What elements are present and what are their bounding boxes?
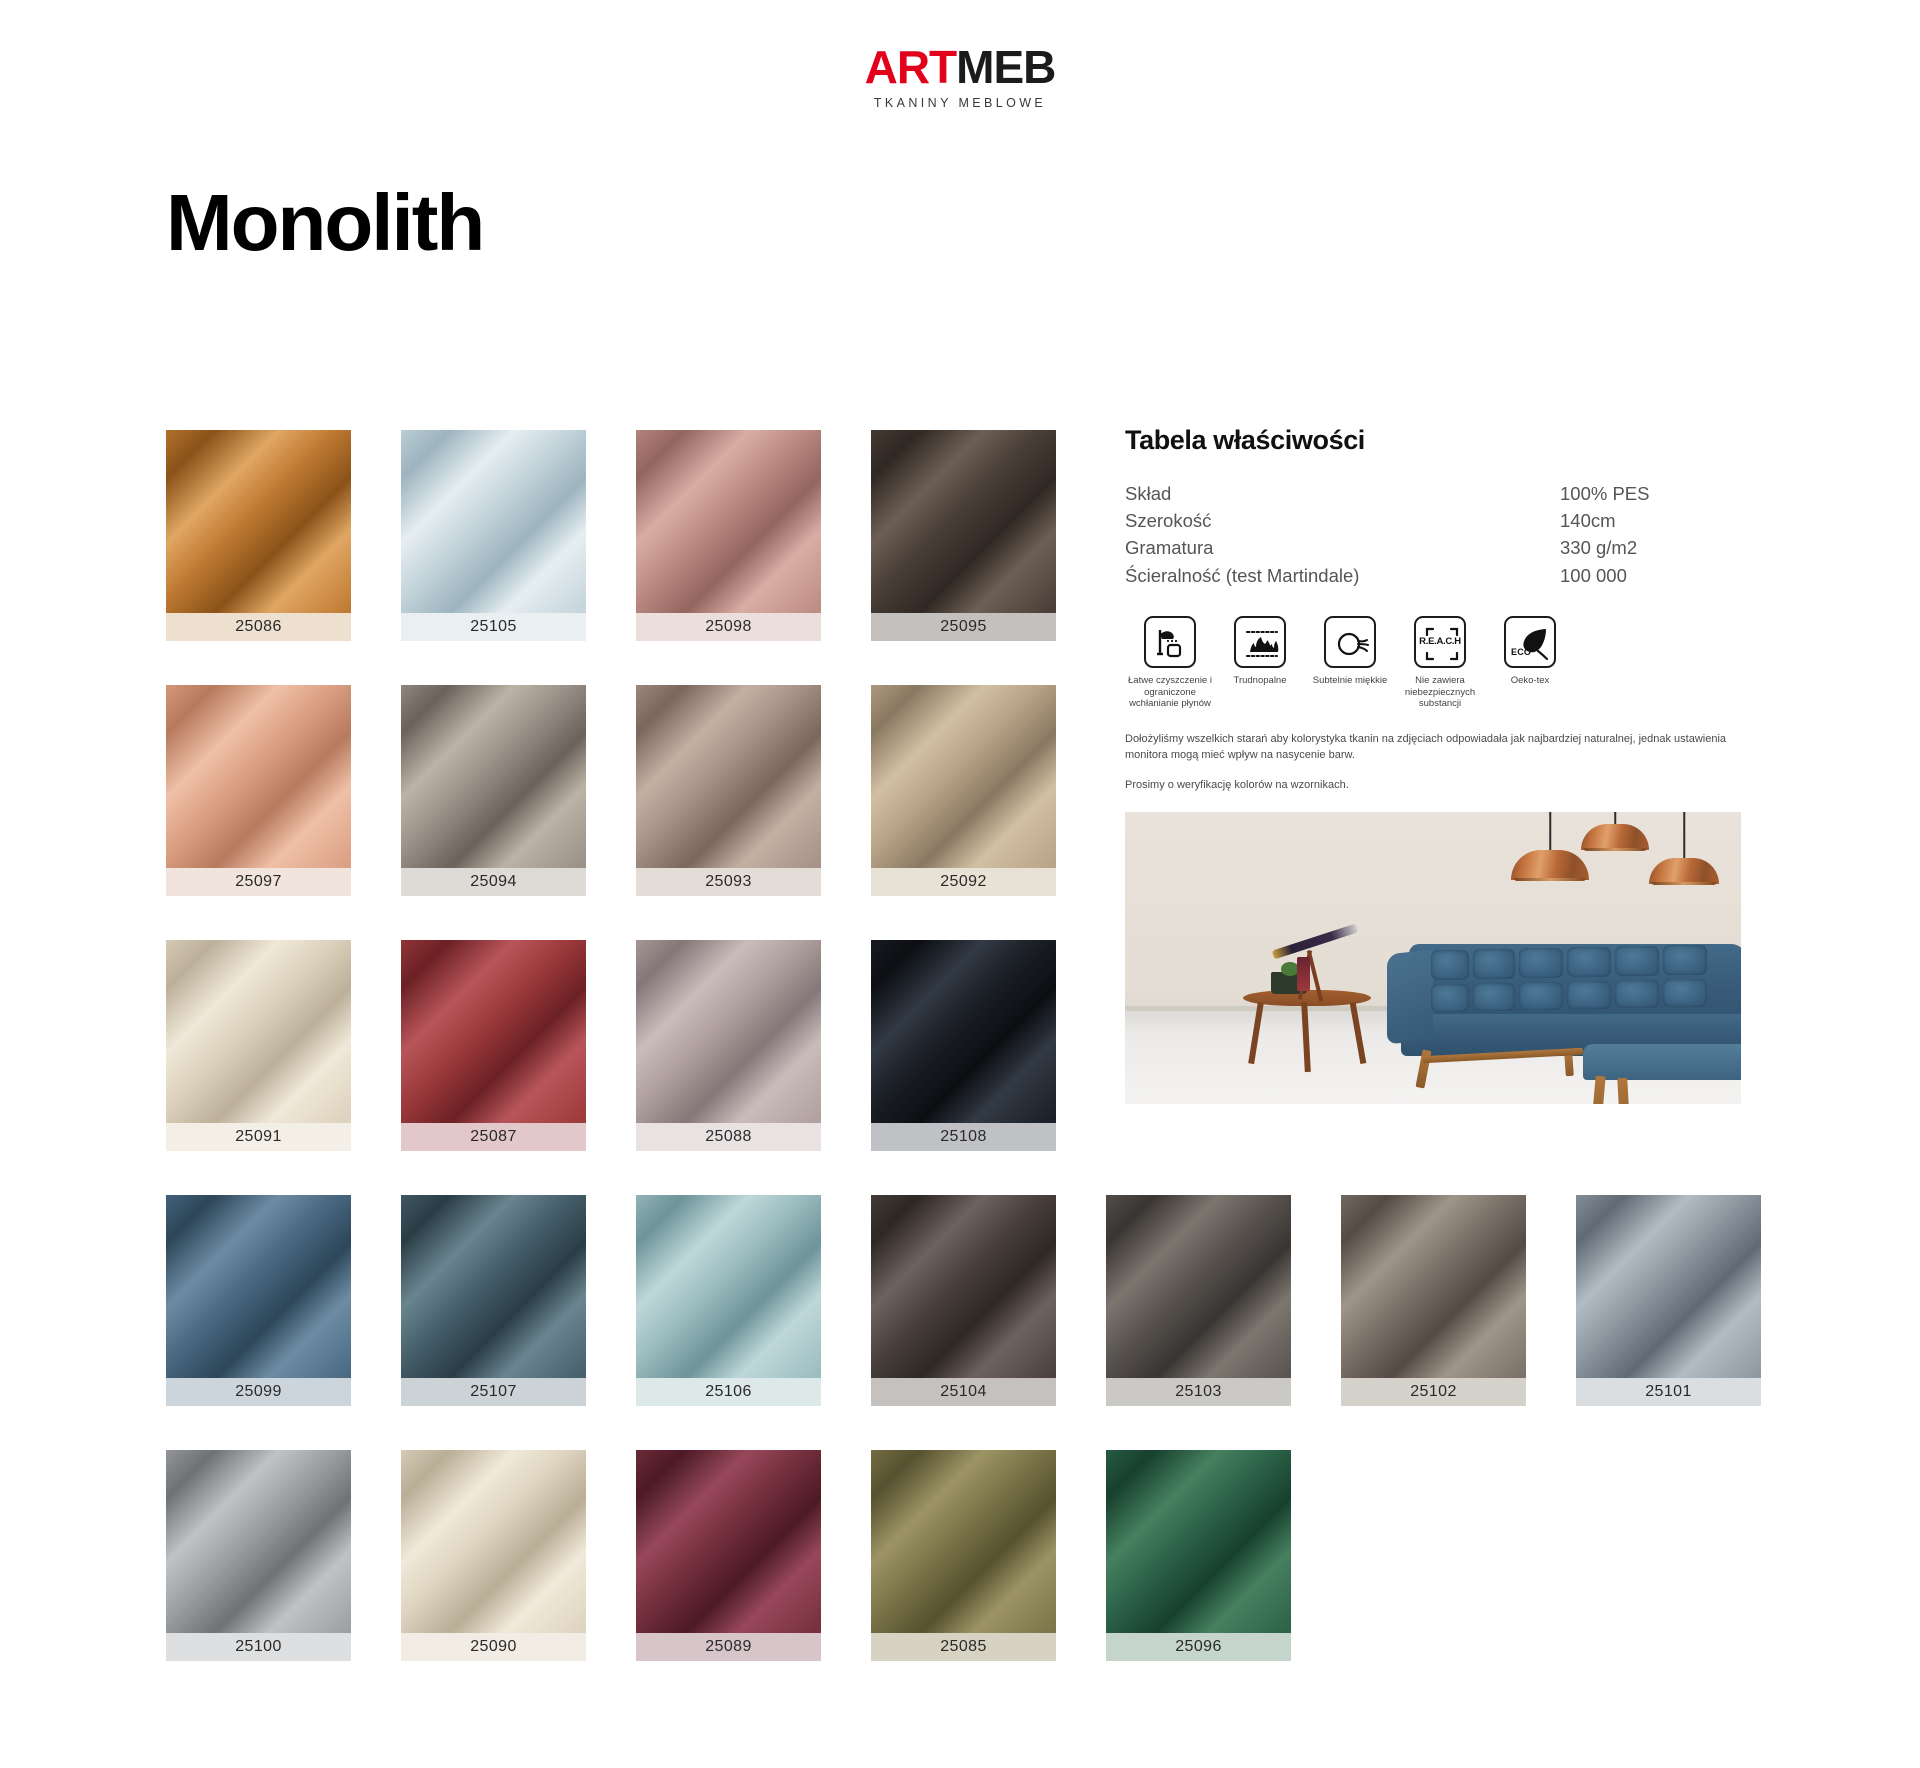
swatch-image <box>636 940 821 1123</box>
brand-logo: ARTMEB TKANINY MEBLOWE <box>0 44 1920 110</box>
feature-easy-clean: Łatwe czyszczenie i ograniczone wchłania… <box>1125 616 1215 711</box>
swatch-image <box>1106 1450 1291 1633</box>
swatch-image <box>636 1195 821 1378</box>
swatch-code-label: 25097 <box>166 868 351 896</box>
fabric-fold <box>636 940 821 1123</box>
swatch-code-label: 25089 <box>636 1633 821 1661</box>
swatch-image <box>401 1195 586 1378</box>
fabric-fold <box>636 430 821 613</box>
property-row: Gramatura330 g/m2 <box>1125 535 1750 562</box>
swatch-code-label: 25106 <box>636 1378 821 1406</box>
swatch-25089[interactable]: 25089 <box>636 1450 821 1661</box>
swatch-code-label: 25094 <box>401 868 586 896</box>
swatch-image <box>166 1195 351 1378</box>
fabric-fold <box>871 685 1056 868</box>
feature-soft-touch: Subtelnie miękkie <box>1305 616 1395 711</box>
property-value: 140cm <box>1560 507 1750 534</box>
swatch-image <box>871 1195 1056 1378</box>
fabric-fold <box>166 685 351 868</box>
swatch-25098[interactable]: 25098 <box>636 430 821 641</box>
swatch-image <box>636 685 821 868</box>
fabric-fold <box>1106 1195 1291 1378</box>
properties-title: Tabela właściwości <box>1125 425 1750 456</box>
ottoman-bench <box>1583 1044 1741 1104</box>
disclaimer-line-2: Prosimy o weryfikację kolorów na wzornik… <box>1125 778 1745 794</box>
swatch-image <box>871 430 1056 613</box>
logo-tagline: TKANINY MEBLOWE <box>0 96 1920 110</box>
swatch-code-label: 25085 <box>871 1633 1056 1661</box>
fabric-fold <box>401 1195 586 1378</box>
swatch-25107[interactable]: 25107 <box>401 1195 586 1406</box>
swatch-image <box>166 940 351 1123</box>
swatch-25105[interactable]: 25105 <box>401 430 586 641</box>
decor-bottle <box>1297 957 1310 991</box>
swatch-image <box>871 940 1056 1123</box>
swatch-25104[interactable]: 25104 <box>871 1195 1056 1406</box>
swatch-image <box>1341 1195 1526 1378</box>
swatch-image <box>871 1450 1056 1633</box>
swatch-code-label: 25087 <box>401 1123 586 1151</box>
eco-leaf-icon: ECO <box>1504 616 1556 668</box>
properties-panel: Tabela właściwości Skład100% PESSzerokoś… <box>1125 425 1750 1104</box>
pendant-lamp-left <box>1510 812 1590 882</box>
eco-badge-text: ECO <box>1511 647 1531 657</box>
fabric-fold <box>1341 1195 1526 1378</box>
fabric-fold <box>636 1195 821 1378</box>
swatch-25087[interactable]: 25087 <box>401 940 586 1151</box>
swatch-image <box>1576 1195 1761 1378</box>
swatch-image <box>166 685 351 868</box>
soft-touch-icon <box>1324 616 1376 668</box>
swatch-code-label: 25095 <box>871 613 1056 641</box>
feature-icons-row: Łatwe czyszczenie i ograniczone wchłania… <box>1125 616 1750 711</box>
fabric-fold <box>401 685 586 868</box>
fabric-catalog-page: ARTMEB TKANINY MEBLOWE Monolith 25086251… <box>0 0 1920 1768</box>
swatch-25099[interactable]: 25099 <box>166 1195 351 1406</box>
swatch-25094[interactable]: 25094 <box>401 685 586 896</box>
swatch-code-label: 25088 <box>636 1123 821 1151</box>
swatch-25102[interactable]: 25102 <box>1341 1195 1526 1406</box>
fabric-fold <box>166 1195 351 1378</box>
disclaimer-text: Dołożyliśmy wszelkich starań aby kolorys… <box>1125 732 1745 794</box>
feature-caption: Łatwe czyszczenie i ograniczone wchłania… <box>1125 675 1215 711</box>
fabric-fold <box>166 940 351 1123</box>
swatch-image <box>636 430 821 613</box>
fabric-fold <box>871 1195 1056 1378</box>
property-value: 100 000 <box>1560 562 1750 589</box>
fabric-fold <box>401 1450 586 1633</box>
swatch-25090[interactable]: 25090 <box>401 1450 586 1661</box>
swatch-25095[interactable]: 25095 <box>871 430 1056 641</box>
property-row: Skład100% PES <box>1125 480 1750 507</box>
property-row: Szerokość140cm <box>1125 507 1750 534</box>
pendant-lamp-center <box>1580 812 1650 856</box>
telescope <box>1272 924 1358 960</box>
reach-icon: R.E.A.C.H <box>1414 616 1466 668</box>
swatch-image <box>1106 1195 1291 1378</box>
feature-caption: Nie zawiera niebezpiecznych substancji <box>1395 675 1485 711</box>
property-row: Ścieralność (test Martindale)100 000 <box>1125 562 1750 589</box>
swatch-25106[interactable]: 25106 <box>636 1195 821 1406</box>
swatch-25093[interactable]: 25093 <box>636 685 821 896</box>
swatch-25091[interactable]: 25091 <box>166 940 351 1151</box>
feature-caption: Subtelnie miękkie <box>1305 675 1395 687</box>
reach-badge-text: R.E.A.C.H <box>1416 618 1464 666</box>
swatch-code-label: 25090 <box>401 1633 586 1661</box>
feature-caption: Trudnopalne <box>1215 675 1305 687</box>
swatch-25092[interactable]: 25092 <box>871 685 1056 896</box>
swatch-row: 25099251072510625104251032510225101 <box>166 1195 1366 1406</box>
swatch-25103[interactable]: 25103 <box>1106 1195 1291 1406</box>
feature-eco-leaf: ECOOeko-tex <box>1485 616 1575 711</box>
swatch-image <box>401 685 586 868</box>
swatch-code-label: 25091 <box>166 1123 351 1151</box>
swatch-image <box>401 430 586 613</box>
fabric-fold <box>401 430 586 613</box>
property-value: 330 g/m2 <box>1560 535 1750 562</box>
swatch-code-label: 25104 <box>871 1378 1056 1406</box>
pendant-lamp-right <box>1648 812 1720 890</box>
page-title: Monolith <box>166 183 483 263</box>
fabric-fold <box>401 940 586 1123</box>
feature-flame-retardant: Trudnopalne <box>1215 616 1305 711</box>
fabric-fold <box>871 940 1056 1123</box>
swatch-25101[interactable]: 25101 <box>1576 1195 1761 1406</box>
fabric-fold <box>166 430 351 613</box>
swatch-code-label: 25101 <box>1576 1378 1761 1406</box>
property-label: Ścieralność (test Martindale) <box>1125 562 1560 589</box>
logo-meb-text: MEB <box>956 41 1055 93</box>
swatch-image <box>166 430 351 613</box>
side-table <box>1243 990 1371 1060</box>
feature-reach: R.E.A.C.HNie zawiera niebezpiecznych sub… <box>1395 616 1485 711</box>
fabric-fold <box>636 685 821 868</box>
swatch-25085[interactable]: 25085 <box>871 1450 1056 1661</box>
swatch-25088[interactable]: 25088 <box>636 940 821 1151</box>
swatch-image <box>166 1450 351 1633</box>
property-label: Skład <box>1125 480 1560 507</box>
easy-clean-icon <box>1144 616 1196 668</box>
fabric-fold <box>871 430 1056 613</box>
fabric-fold <box>871 1450 1056 1633</box>
swatch-25108[interactable]: 25108 <box>871 940 1056 1151</box>
swatch-code-label: 25096 <box>1106 1633 1291 1661</box>
swatch-25096[interactable]: 25096 <box>1106 1450 1291 1661</box>
interior-photo <box>1125 812 1741 1104</box>
property-value: 100% PES <box>1560 480 1750 507</box>
swatch-code-label: 25103 <box>1106 1378 1291 1406</box>
swatch-image <box>401 940 586 1123</box>
swatch-code-label: 25093 <box>636 868 821 896</box>
swatch-25097[interactable]: 25097 <box>166 685 351 896</box>
property-label: Gramatura <box>1125 535 1560 562</box>
fabric-fold <box>636 1450 821 1633</box>
logo-art-text: ART <box>865 41 957 93</box>
fabric-fold <box>166 1450 351 1633</box>
swatch-code-label: 25086 <box>166 613 351 641</box>
swatch-row: 2510025090250892508525096 <box>166 1450 1366 1661</box>
swatch-25100[interactable]: 25100 <box>166 1450 351 1661</box>
swatch-code-label: 25107 <box>401 1378 586 1406</box>
swatch-image <box>871 685 1056 868</box>
property-label: Szerokość <box>1125 507 1560 534</box>
feature-caption: Oeko-tex <box>1485 675 1575 687</box>
swatch-code-label: 25100 <box>166 1633 351 1661</box>
fabric-fold <box>1106 1450 1291 1633</box>
logo-wordmark: ARTMEB <box>0 44 1920 90</box>
disclaimer-line-1: Dołożyliśmy wszelkich starań aby kolorys… <box>1125 732 1745 764</box>
swatch-code-label: 25098 <box>636 613 821 641</box>
swatch-image <box>401 1450 586 1633</box>
properties-table: Skład100% PESSzerokość140cmGramatura330 … <box>1125 480 1750 590</box>
swatch-code-label: 25102 <box>1341 1378 1526 1406</box>
swatch-image <box>636 1450 821 1633</box>
swatch-code-label: 25092 <box>871 868 1056 896</box>
swatch-25086[interactable]: 25086 <box>166 430 351 641</box>
swatch-code-label: 25099 <box>166 1378 351 1406</box>
swatch-code-label: 25108 <box>871 1123 1056 1151</box>
flame-retardant-icon <box>1234 616 1286 668</box>
fabric-fold <box>1576 1195 1761 1378</box>
swatch-code-label: 25105 <box>401 613 586 641</box>
